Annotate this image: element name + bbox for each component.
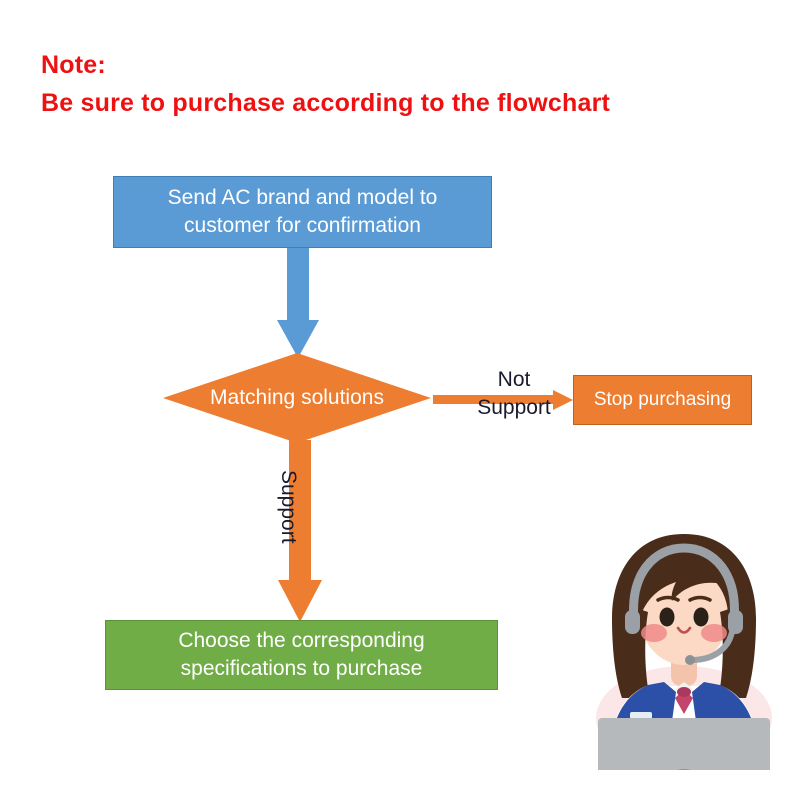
flowchart-canvas: Note: Be sure to purchase according to t… xyxy=(0,0,800,800)
node-send-ac-info[interactable]: Send AC brand and model to customer for … xyxy=(113,176,492,248)
node-choose-specifications[interactable]: Choose the corresponding specifications … xyxy=(105,620,498,690)
arrow-shaft xyxy=(287,248,309,324)
edge-label-not-support: Not Support xyxy=(462,366,566,422)
customer-service-operator-illustration xyxy=(572,522,796,770)
edge-label-not-support-line1: Not xyxy=(462,366,566,394)
note-block: Note: Be sure to purchase according to t… xyxy=(41,46,741,122)
edge-label-support: Support xyxy=(276,470,300,544)
node-stop-purchasing[interactable]: Stop purchasing xyxy=(573,375,752,425)
node-matching-solutions-label: Matching solutions xyxy=(163,353,431,443)
node-matching-solutions[interactable]: Matching solutions xyxy=(163,353,431,443)
node-stop-purchasing-label: Stop purchasing xyxy=(586,387,739,413)
node-choose-specifications-label: Choose the corresponding specifications … xyxy=(106,627,497,684)
note-heading: Note: xyxy=(41,46,741,84)
note-instruction: Be sure to purchase according to the flo… xyxy=(41,84,741,122)
arrow-head-down-icon xyxy=(278,580,322,622)
node-send-ac-info-label: Send AC brand and model to customer for … xyxy=(114,184,491,241)
arrow-send-to-matching xyxy=(277,248,319,358)
edge-label-not-support-line2: Support xyxy=(462,394,566,422)
